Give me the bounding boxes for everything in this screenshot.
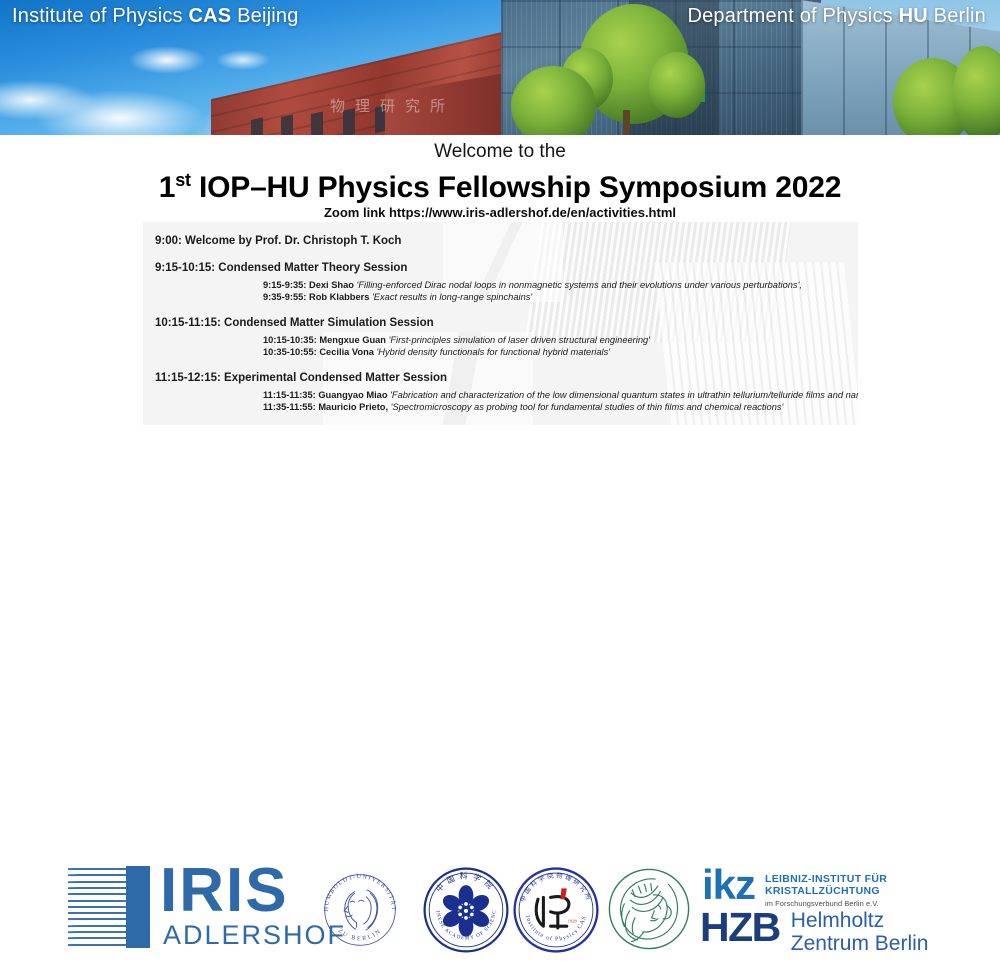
schedule-panel: 9:00: Welcome by Prof. Dr. Christoph T. … <box>143 222 858 425</box>
schedule-talk-entry: 9:35-9:55: Rob Klabbers 'Exact results i… <box>263 291 858 303</box>
ikz-line-3: im Forschungsverbund Berlin e.V. <box>765 899 887 908</box>
page-title: 1st IOP–HU Physics Fellowship Symposium … <box>0 170 1000 205</box>
banner-title-left: Institute of Physics CAS Beijing <box>12 5 299 28</box>
talk-title: 'Spectromicroscopy as probing tool for f… <box>391 402 784 412</box>
iris-bar-mark <box>126 866 150 948</box>
hu-seal-icon: HUMBOLDT-UNIVERSITÄT ZU BERLIN <box>318 868 402 952</box>
banner-image-iop-beijing: 物理研究所 Institute of Physics CAS Beijing <box>0 0 501 135</box>
banner-title-right: Department of Physics HU Berlin <box>687 5 986 28</box>
talk-speaker: Dexi Shao <box>309 280 357 290</box>
logo-ikz: ikz LEIBNIZ-INSTITUT FÜR KRISTALLZÜCHTUN… <box>702 866 887 908</box>
talk-time: 10:35-10:55: <box>263 347 319 357</box>
schedule-talk-entry: 10:35-10:55: Cecilia Vona 'Hybrid densit… <box>263 346 858 358</box>
schedule-talk-entry: 11:35-11:55: Mauricio Prieto, 'Spectromi… <box>263 401 858 413</box>
talk-speaker: Rob Klabbers <box>309 292 372 302</box>
svg-text:Institute of Physics CAS: Institute of Physics CAS <box>524 915 588 943</box>
svg-text:中国科学院物理研究所: 中国科学院物理研究所 <box>518 870 595 903</box>
iop-window <box>251 117 263 135</box>
cas-seal-icon: 中国科学院 CHINESE ACADEMY OF SCIENCES <box>420 864 512 956</box>
hu-tree-trunk <box>623 110 630 135</box>
talk-speaker: Mengxue Guan <box>319 335 388 345</box>
talk-title: 'Fabrication and characterization of the… <box>390 390 858 400</box>
logo-humboldt-universitaet: HUMBOLDT-UNIVERSITÄT ZU BERLIN <box>318 868 402 952</box>
iop-cas-seal-icon: 中国科学院物理研究所 Institute of Physics CAS 1928 <box>511 865 601 955</box>
schedule-talk-entry: 11:15-11:35: Guangyao Miao 'Fabrication … <box>263 389 858 401</box>
iris-wave-line <box>68 944 126 948</box>
welcome-line: Welcome to the <box>0 141 1000 163</box>
hzb-line-2: Zentrum Berlin <box>791 933 929 956</box>
hzb-line-1: Helmholtz <box>791 910 929 933</box>
ikz-line-2: KRISTALLZÜCHTUNG <box>765 885 887 897</box>
max-planck-minerva-icon <box>605 865 693 953</box>
zoom-link[interactable]: Zoom link https://www.iris-adlershof.de/… <box>0 205 1000 220</box>
logo-chinese-academy-of-sciences: 中国科学院 CHINESE ACADEMY OF SCIENCES <box>420 864 512 956</box>
ikz-line-1: LEIBNIZ-INSTITUT FÜR <box>765 873 887 885</box>
schedule-talk-entry: 9:15-9:35: Dexi Shao 'Filling-enforced D… <box>263 279 858 291</box>
svg-text:HUMBOLDT-UNIVERSITÄT: HUMBOLDT-UNIVERSITÄT <box>323 873 397 912</box>
svg-text:ZU BERLIN: ZU BERLIN <box>337 927 384 942</box>
hu-tree-foliage <box>649 52 705 118</box>
talk-time: 11:15-11:35: <box>263 390 318 400</box>
iop-building-chinese-signage: 物理研究所 <box>330 95 455 116</box>
schedule-list: 9:00: Welcome by Prof. Dr. Christoph T. … <box>143 222 858 425</box>
talk-title: 'Filling-enforced Dirac nodal loops in n… <box>357 280 802 290</box>
iris-wave-mark <box>68 866 126 948</box>
ikz-wordmark: ikz <box>702 866 755 905</box>
iop-founding-year: 1928 <box>568 919 578 924</box>
talk-time: 11:35-11:55: <box>263 402 318 412</box>
schedule-session-heading: 9:15-10:15: Condensed Matter Theory Sess… <box>155 261 858 275</box>
iop-window <box>281 114 293 135</box>
schedule-spacer <box>155 358 858 371</box>
logo-max-planck-society <box>605 865 693 953</box>
schedule-session-heading: 9:00: Welcome by Prof. Dr. Christoph T. … <box>155 234 858 248</box>
schedule-session-heading: 10:15-11:15: Condensed Matter Simulation… <box>155 316 858 330</box>
iop-window <box>311 111 323 135</box>
logo-institute-of-physics-cas: 中国科学院物理研究所 Institute of Physics CAS 1928 <box>511 865 601 955</box>
talk-time: 9:15-9:35: <box>263 280 309 290</box>
hzb-wordmark: HZB <box>700 908 780 947</box>
sponsor-logo-strip: IRIS ADLERSHOF HUMBOLDT-UNIVERSITÄT ZU B… <box>0 428 1000 528</box>
schedule-talk-entry: 10:15-10:35: Mengxue Guan 'First-princip… <box>263 334 858 346</box>
talk-time: 9:35-9:55: <box>263 292 309 302</box>
talk-speaker: Mauricio Prieto, <box>318 402 390 412</box>
talk-title: 'First-principles simulation of laser dr… <box>389 335 650 345</box>
iris-wordmark: IRIS <box>160 860 289 922</box>
talk-speaker: Guangyao Miao <box>318 390 390 400</box>
talk-title: 'Exact results in long-range spinchains' <box>372 292 532 302</box>
talk-speaker: Cecilia Vona <box>319 347 376 357</box>
talk-time: 10:15-10:35: <box>263 335 319 345</box>
banner-image-hu-berlin: Department of Physics HU Berlin <box>501 0 1000 135</box>
logo-hzb: HZB Helmholtz Zentrum Berlin <box>700 908 928 955</box>
talk-title: 'Hybrid density functionals for function… <box>377 347 611 357</box>
schedule-session-heading: 11:15-12:15: Experimental Condensed Matt… <box>155 371 858 385</box>
schedule-spacer <box>155 413 858 425</box>
schedule-spacer <box>155 303 858 316</box>
header-banner: 物理研究所 Institute of Physics CAS Beijing D… <box>0 0 1000 135</box>
schedule-spacer <box>155 248 858 261</box>
